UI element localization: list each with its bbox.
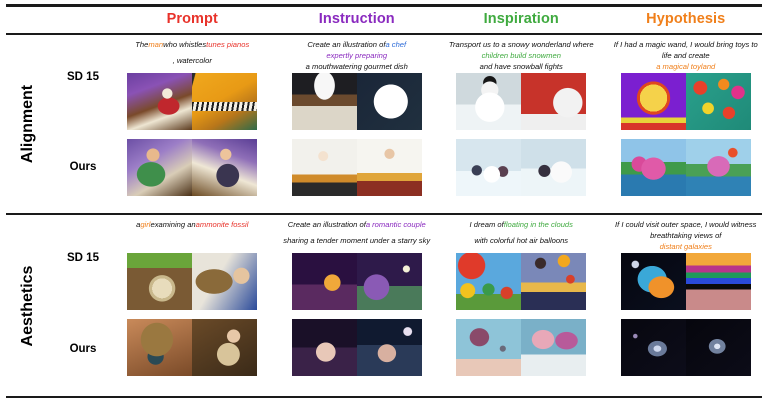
image-tile-couple-embracing-night <box>292 319 357 376</box>
caption-segment: ammonite fossil <box>196 219 249 230</box>
cell-alignment-inspiration: Transport us to a snowy wonderland where… <box>439 35 604 213</box>
row-label-aesthetics-sd15: SD 15 <box>56 215 110 307</box>
image-tile-girl-holding-large-ammonite <box>192 319 257 376</box>
rule-bottom <box>6 396 762 398</box>
image-tile-children-rolling-snowball <box>456 139 521 196</box>
image-tile-couple-under-stars <box>357 319 422 376</box>
caption-alignment-instruction: Create an illustration of a chef expertl… <box>279 35 436 73</box>
caption-segment: If I could visit outer space, I would wi… <box>610 219 763 241</box>
caption-segment: Create an illustration of <box>307 39 385 50</box>
cell-alignment-hypothesis: If I had a magic wand, I would bring toy… <box>604 35 768 213</box>
caption-segment: a chef <box>385 39 406 50</box>
column-header-row: Prompt Instruction Inspiration Hypothesi… <box>0 9 768 33</box>
row-labels-aesthetics: SD 15 Ours <box>56 215 110 396</box>
image-tile-two-patterned-balloons <box>521 319 586 376</box>
image-tile-spiral-galaxy-left <box>621 319 686 376</box>
image-pair-ours <box>127 319 257 376</box>
cell-aesthetics-instruction: Create an illustration of a romantic cou… <box>275 215 440 396</box>
caption-segment: tunes pianos <box>206 39 249 50</box>
image-tile-starry-sky-gradient <box>292 253 357 310</box>
cell-aesthetics-prompt: a girl examining an ammonite fossil <box>110 215 275 396</box>
images-alignment-hypothesis <box>608 73 765 196</box>
image-tile-red-balloon-over-field <box>456 253 521 310</box>
caption-segment: examining an <box>150 219 195 230</box>
image-tile-fantasy-castle-balloons <box>686 139 751 196</box>
images-alignment-inspiration <box>443 73 600 196</box>
column-header-inspiration: Inspiration <box>439 9 604 33</box>
image-pair-sd15 <box>127 253 257 310</box>
caption-segment: girl <box>140 219 150 230</box>
image-tile-candy-pieces-teal <box>686 73 751 130</box>
row-label-aesthetics-ours: Ours <box>56 307 110 397</box>
caption-segment: , watercolor <box>173 55 212 66</box>
caption-segment: who whistles <box>163 39 206 50</box>
image-pair-ours <box>456 319 586 376</box>
cell-aesthetics-hypothesis: If I could visit outer space, I would wi… <box>604 215 768 396</box>
band-label-alignment-text: Alignment <box>19 85 37 163</box>
image-tile-spiral-galaxy-right <box>686 319 751 376</box>
caption-alignment-prompt: The man who whistles tunes pianos, water… <box>114 35 271 73</box>
image-pair-sd15 <box>621 253 751 310</box>
caption-aesthetics-hypothesis: If I could visit outer space, I would wi… <box>608 215 765 253</box>
image-tile-children-building-snowman <box>521 139 586 196</box>
image-tile-snowman-with-top-hat <box>456 73 521 130</box>
band-alignment: Alignment SD 15 Ours The man who whistle… <box>0 35 768 213</box>
images-aesthetics-inspiration <box>443 253 600 376</box>
band-label-aesthetics: Aesthetics <box>0 215 56 396</box>
image-pair-sd15 <box>127 73 257 130</box>
image-tile-chef-hands-chopping <box>292 73 357 130</box>
row-label-alignment-ours: Ours <box>56 125 110 213</box>
cell-aesthetics-inspiration: I dream of floating in the clouds with c… <box>439 215 604 396</box>
caption-segment: The <box>135 39 148 50</box>
images-aesthetics-prompt <box>114 253 271 376</box>
column-header-prompt: Prompt <box>110 9 275 33</box>
images-aesthetics-instruction <box>279 253 436 376</box>
image-tile-watercolor-man-tuning-piano <box>192 139 257 196</box>
image-tile-balloons-above-clouds <box>456 319 521 376</box>
caption-aesthetics-instruction: Create an illustration of a romantic cou… <box>279 215 436 253</box>
image-pair-sd15 <box>292 73 422 130</box>
images-alignment-instruction <box>279 73 436 196</box>
image-pair-ours <box>292 139 422 196</box>
image-tile-boy-touching-fossil-wall <box>192 253 257 310</box>
image-tile-watercolor-man-at-piano-green <box>127 139 192 196</box>
image-pair-ours <box>621 319 751 376</box>
cell-alignment-prompt: The man who whistles tunes pianos, water… <box>110 35 275 213</box>
image-tile-chef-in-kitchen-plating <box>292 139 357 196</box>
caption-segment: and have snowball fights <box>480 61 563 72</box>
image-tile-couple-silhouette-field <box>357 253 422 310</box>
caption-alignment-hypothesis: If I had a magic wand, I would bring toy… <box>608 35 765 73</box>
image-tile-fantasy-castle-island <box>621 139 686 196</box>
images-aesthetics-hypothesis <box>608 253 765 376</box>
images-alignment-prompt <box>114 73 271 196</box>
caption-segment: a mouthwatering gourmet dish <box>306 61 408 72</box>
image-tile-balloons-over-city-dusk <box>521 253 586 310</box>
caption-aesthetics-prompt: a girl examining an ammonite fossil <box>114 215 271 253</box>
comparison-figure: Prompt Instruction Inspiration Hypothesi… <box>0 0 768 401</box>
caption-segment: Create an illustration of <box>288 219 366 230</box>
caption-segment: floating in the clouds <box>504 219 573 230</box>
image-tile-girl-crouching-with-fossil <box>127 253 192 310</box>
image-tile-red-caravan-in-snow <box>521 73 586 130</box>
band-label-aesthetics-text: Aesthetics <box>19 265 37 346</box>
cell-alignment-instruction: Create an illustration of a chef expertl… <box>275 35 440 213</box>
caption-segment: I dream of <box>470 219 504 230</box>
header-corner-spacer <box>0 9 110 33</box>
caption-segment: If I had a magic wand, I would bring toy… <box>610 39 763 61</box>
image-tile-aurora-color-bands <box>686 253 751 310</box>
image-pair-sd15 <box>292 253 422 310</box>
caption-segment: expertly preparing <box>326 50 387 61</box>
column-header-hypothesis: Hypothesis <box>604 9 768 33</box>
caption-alignment-inspiration: Transport us to a snowy wonderland where… <box>443 35 600 73</box>
image-pair-sd15 <box>456 253 586 310</box>
caption-segment: Transport us to a snowy wonderland where <box>449 39 594 50</box>
caption-segment: sharing a tender moment under a starry s… <box>283 235 430 246</box>
caption-segment: man <box>148 39 163 50</box>
image-pair-sd15 <box>456 73 586 130</box>
image-pair-ours <box>127 139 257 196</box>
caption-segment: children build snowmen <box>482 50 561 61</box>
caption-segment: a romantic couple <box>366 219 426 230</box>
caption-segment: with colorful hot air balloons <box>474 235 568 246</box>
band-aesthetics: Aesthetics SD 15 Ours a girl examining a… <box>0 215 768 396</box>
image-pair-ours <box>292 319 422 376</box>
image-tile-planet-with-atmosphere <box>621 253 686 310</box>
caption-segment: distant galaxies <box>660 241 712 252</box>
band-label-alignment: Alignment <box>0 35 56 213</box>
caption-aesthetics-inspiration: I dream of floating in the clouds with c… <box>443 215 600 253</box>
image-pair-ours <box>621 139 751 196</box>
image-tile-chef-cooking-pan <box>357 139 422 196</box>
image-tile-watercolor-grand-piano-orange <box>192 73 257 130</box>
image-tile-candy-game-board-purple <box>621 73 686 130</box>
column-header-instruction: Instruction <box>275 9 440 33</box>
image-pair-ours <box>456 139 586 196</box>
row-labels-alignment: SD 15 Ours <box>56 35 110 213</box>
image-tile-gourmet-plated-salad <box>357 73 422 130</box>
image-tile-watercolor-pianist-purple <box>127 73 192 130</box>
caption-segment: a magical toyland <box>656 61 715 72</box>
rule-top <box>6 4 762 7</box>
image-pair-sd15 <box>621 73 751 130</box>
image-tile-girl-holding-ammonite-dusk <box>127 319 192 376</box>
row-label-alignment-sd15: SD 15 <box>56 35 110 125</box>
